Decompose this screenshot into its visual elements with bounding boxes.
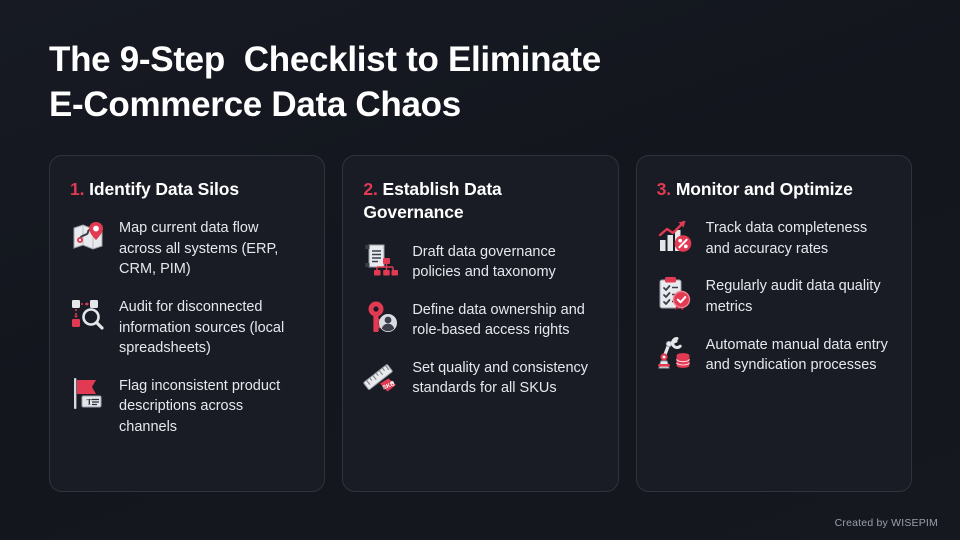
list-item: T Flag inconsistent product descriptions…: [70, 375, 304, 438]
list-item: Audit for disconnected information sourc…: [70, 296, 304, 359]
list-item: Define data ownership and role-based acc…: [363, 299, 597, 341]
list-item-text: Track data completeness and accuracy rat…: [706, 217, 891, 259]
ruler-sku-tag-icon: SKU: [363, 358, 399, 394]
card-2-number: 2.: [363, 179, 377, 199]
svg-text:T: T: [87, 396, 93, 406]
list-item: Regularly audit data quality metrics: [657, 275, 891, 317]
list-item-text: Define data ownership and role-based acc…: [412, 299, 597, 341]
map-route-pin-icon: [70, 218, 106, 254]
clipboard-checklist-seal-icon: [657, 276, 693, 312]
card-3-heading-text: Monitor and Optimize: [676, 179, 853, 199]
card-1-number: 1.: [70, 179, 84, 199]
list-item: Draft data governance policies and taxon…: [363, 241, 597, 283]
list-item-text: Flag inconsistent product descriptions a…: [119, 375, 304, 438]
footer-credit: Created by WISEPIM: [835, 517, 938, 529]
list-item-text: Draft data governance policies and taxon…: [412, 241, 597, 283]
growth-chart-percent-icon: [657, 218, 693, 254]
card-1-heading-text: Identify Data Silos: [89, 179, 239, 199]
list-item-text: Map current data flow across all systems…: [119, 217, 304, 280]
key-user-access-icon: [363, 300, 399, 336]
card-2-heading: 2. Establish Data Governance: [363, 178, 597, 225]
list-item-text: Audit for disconnected information sourc…: [119, 296, 304, 359]
checklist-card-2: 2. Establish Data Governance: [342, 155, 618, 492]
list-item: Track data completeness and accuracy rat…: [657, 217, 891, 259]
slide-canvas: The 9-Step Checklist to Eliminate E-Comm…: [0, 0, 960, 540]
card-3-number: 3.: [657, 179, 671, 199]
robot-arm-database-icon: [657, 335, 693, 371]
checklist-card-1: 1. Identify Data Silos Ma: [49, 155, 325, 492]
list-item-text: Regularly audit data quality metrics: [706, 275, 891, 317]
card-1-heading: 1. Identify Data Silos: [70, 178, 304, 201]
list-item: Map current data flow across all systems…: [70, 217, 304, 280]
card-3-heading: 3. Monitor and Optimize: [657, 178, 891, 201]
checklist-card-3: 3. Monitor and Optimize: [636, 155, 912, 492]
list-item-text: Set quality and consistency standards fo…: [412, 357, 597, 399]
list-item: Automate manual data entry and syndicati…: [657, 334, 891, 376]
document-taxonomy-icon: [363, 242, 399, 278]
checklist-card-row: 1. Identify Data Silos Ma: [49, 155, 912, 492]
list-item-text: Automate manual data entry and syndicati…: [706, 334, 891, 376]
card-2-heading-text: Establish Data Governance: [363, 179, 501, 222]
disconnected-nodes-magnifier-icon: [70, 297, 106, 333]
page-title: The 9-Step Checklist to Eliminate E-Comm…: [49, 38, 909, 128]
red-flag-description-icon: T: [70, 376, 106, 412]
list-item: SKU Set quality and consistency standard…: [363, 357, 597, 399]
